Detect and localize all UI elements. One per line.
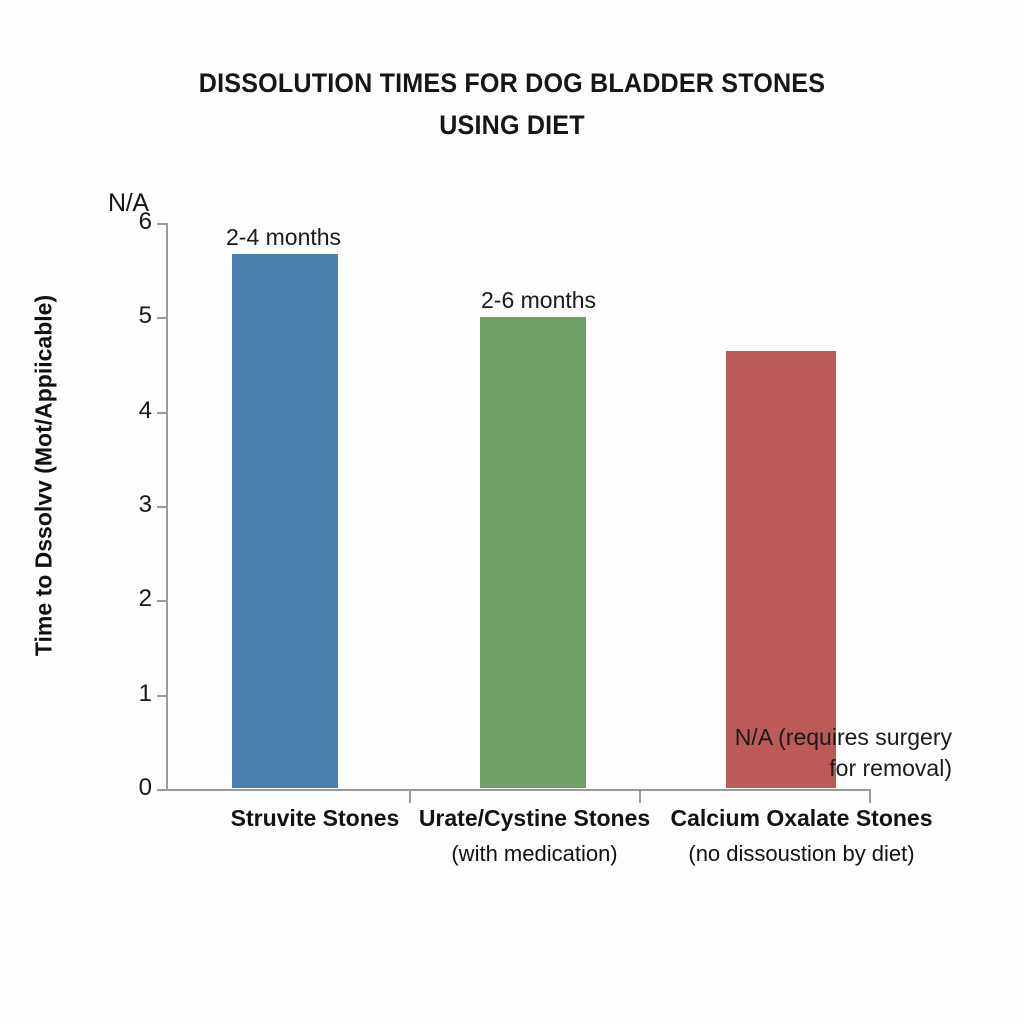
y-tick-label-6: 6: [108, 208, 152, 236]
y-tick-4: [157, 412, 167, 414]
category-label-urate-cystine: Urate/Cystine Stones (with medication): [392, 800, 677, 872]
bar-label-calcium-oxalate: N/A (requires surgery for removal): [622, 722, 952, 784]
y-tick-label-5: 5: [108, 302, 152, 330]
y-tick-label-3: 3: [108, 491, 152, 519]
bar-label-struvite: 2-4 months: [226, 224, 341, 251]
x-axis-line: [166, 789, 871, 791]
y-tick-label-1: 1: [108, 680, 152, 708]
bar-urate-cystine-stones[interactable]: [480, 317, 586, 788]
chart-figure: DISSOLUTION TIMES FOR DOG BLADDER STONES…: [0, 0, 1024, 1024]
y-tick-label-2: 2: [108, 585, 152, 613]
category-label-calcium-oxalate-sub: (no dissoustion by diet): [649, 836, 954, 872]
category-label-urate-cystine-main: Urate/Cystine Stones: [392, 800, 677, 836]
category-label-urate-cystine-sub: (with medication): [392, 836, 677, 872]
y-axis-label: Time to Dssolvv (Mot/Appiicable): [31, 226, 58, 726]
category-label-calcium-oxalate-main: Calcium Oxalate Stones: [649, 800, 954, 836]
bar-struvite-stones[interactable]: [232, 254, 338, 788]
category-label-calcium-oxalate: Calcium Oxalate Stones (no dissoustion b…: [649, 800, 954, 872]
y-tick-2: [157, 600, 167, 602]
y-tick-label-0: 0: [108, 774, 152, 802]
y-tick-5: [157, 317, 167, 319]
chart-title: DISSOLUTION TIMES FOR DOG BLADDER STONES…: [36, 62, 988, 146]
y-tick-label-4: 4: [108, 397, 152, 425]
y-tick-0: [157, 789, 167, 791]
y-tick-1: [157, 695, 167, 697]
bar-label-urate-cystine: 2-6 months: [481, 287, 596, 314]
y-tick-6: [157, 223, 167, 225]
y-tick-3: [157, 506, 167, 508]
